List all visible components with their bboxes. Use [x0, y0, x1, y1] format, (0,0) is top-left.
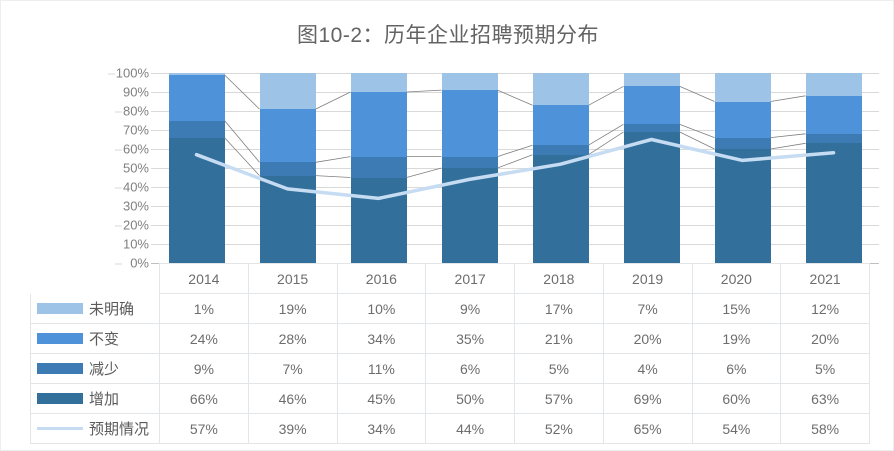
table-body: 未明确1%19%10%9%17%7%15%12%不变24%28%34%35%21… [31, 294, 870, 444]
table-cell: 24% [160, 324, 249, 354]
bar-column[interactable] [806, 73, 862, 263]
bar-column[interactable] [624, 73, 680, 263]
plot-wrapper [151, 73, 879, 263]
bar-segment[interactable] [624, 86, 680, 124]
bar-segment[interactable] [260, 176, 316, 263]
bar-column[interactable] [715, 73, 771, 263]
bar-segment[interactable] [715, 73, 771, 102]
bar-segment[interactable] [351, 157, 407, 178]
legend-label-text: 预期情况 [89, 418, 149, 439]
table-header-year: 2020 [692, 264, 781, 294]
table-cell: 54% [692, 414, 781, 444]
bar-segment[interactable] [806, 73, 862, 96]
table-cell: 10% [337, 294, 426, 324]
legend-label-text: 减少 [89, 358, 119, 379]
y-axis-tick-label: 30% [123, 199, 149, 214]
table-cell: 11% [337, 354, 426, 384]
table-cell: 5% [515, 354, 604, 384]
bar-column[interactable] [442, 73, 498, 263]
bar-segment[interactable] [533, 155, 589, 263]
bar-segment[interactable] [624, 73, 680, 86]
table-row: 增加66%46%45%50%57%69%60%63% [31, 384, 870, 414]
bar-segment[interactable] [169, 75, 225, 121]
legend-row-label: 不变 [31, 324, 160, 354]
legend-row-label: 预期情况 [31, 414, 160, 444]
chart-container: 图10-2：历年企业招聘预期分布 100%90%80%70%60%50%40%3… [0, 0, 894, 451]
y-axis-tick-mark [115, 112, 122, 113]
plot-area [151, 73, 879, 263]
bar-segment[interactable] [260, 162, 316, 175]
bar-segment[interactable] [533, 145, 589, 155]
table-header-year: 2021 [781, 264, 870, 294]
table-cell: 20% [781, 324, 870, 354]
table-cell: 35% [426, 324, 515, 354]
legend-label-text: 增加 [89, 388, 119, 409]
bar-segment[interactable] [806, 143, 862, 263]
bar-segment[interactable] [624, 132, 680, 263]
table-cell: 7% [603, 294, 692, 324]
table-header-year: 2016 [337, 264, 426, 294]
table-row: 未明确1%19%10%9%17%7%15%12% [31, 294, 870, 324]
bar-segment[interactable] [715, 102, 771, 138]
table-header-year: 2014 [160, 264, 249, 294]
bar-segment[interactable] [442, 157, 498, 168]
bar-segment[interactable] [533, 73, 589, 105]
legend-swatch-icon [37, 393, 83, 404]
table-row: 预期情况57%39%34%44%52%65%54%58% [31, 414, 870, 444]
table-header-year: 2017 [426, 264, 515, 294]
table-cell: 44% [426, 414, 515, 444]
table-cell: 20% [603, 324, 692, 354]
table-cell: 52% [515, 414, 604, 444]
table-cell: 57% [160, 414, 249, 444]
data-table: 20142015201620172018201920202021 未明确1%19… [30, 263, 870, 444]
page-title: 图10-2：历年企业招聘预期分布 [1, 19, 894, 49]
table-cell: 58% [781, 414, 870, 444]
table-cell: 4% [603, 354, 692, 384]
legend-row-label: 未明确 [31, 294, 160, 324]
table-cell: 39% [248, 414, 337, 444]
bar-segment[interactable] [442, 168, 498, 263]
legend-swatch-icon [37, 363, 83, 374]
bar-segment[interactable] [169, 138, 225, 263]
bar-segment[interactable] [169, 73, 225, 75]
table-header-year: 2018 [515, 264, 604, 294]
table-cell: 34% [337, 414, 426, 444]
table-row: 减少9%7%11%6%5%4%6%5% [31, 354, 870, 384]
table-cell: 19% [248, 294, 337, 324]
legend-label-text: 不变 [89, 328, 119, 349]
bar-segment[interactable] [533, 105, 589, 145]
table-cell: 69% [603, 384, 692, 414]
table-cell: 9% [426, 294, 515, 324]
bar-segment[interactable] [715, 149, 771, 263]
bar-segment[interactable] [260, 73, 316, 109]
table-cell: 6% [692, 354, 781, 384]
bar-segment[interactable] [806, 96, 862, 134]
y-axis: 100%90%80%70%60%50%40%30%20%10%0% [93, 65, 149, 263]
table-cell: 45% [337, 384, 426, 414]
bar-segment[interactable] [169, 121, 225, 138]
y-axis-tick-label: 20% [123, 218, 149, 233]
bar-segment[interactable] [351, 178, 407, 264]
table-cell: 7% [248, 354, 337, 384]
table-header-row: 20142015201620172018201920202021 [31, 264, 870, 294]
y-axis-tick-label: 80% [123, 104, 149, 119]
table-cell: 12% [781, 294, 870, 324]
y-axis-tick-mark [115, 150, 122, 151]
bar-segment[interactable] [260, 109, 316, 162]
y-axis-tick-label: 60% [123, 142, 149, 157]
table-cell: 5% [781, 354, 870, 384]
y-axis-tick-label: 50% [123, 161, 149, 176]
table-cell: 15% [692, 294, 781, 324]
table-cell: 28% [248, 324, 337, 354]
table-cell: 65% [603, 414, 692, 444]
table-header-label-cell [31, 264, 160, 294]
bar-segment[interactable] [351, 73, 407, 92]
table-cell: 6% [426, 354, 515, 384]
bar-segment[interactable] [442, 90, 498, 157]
table-cell: 17% [515, 294, 604, 324]
table-header-year: 2019 [603, 264, 692, 294]
y-axis-tick-mark [108, 74, 115, 75]
bar-column[interactable] [351, 73, 407, 263]
bar-column[interactable] [533, 73, 589, 263]
bar-segment[interactable] [806, 134, 862, 144]
y-axis-tick-label: 40% [123, 180, 149, 195]
y-axis-tick-label: 90% [123, 85, 149, 100]
legend-row-label: 增加 [31, 384, 160, 414]
bar-column[interactable] [260, 73, 316, 263]
legend-label-text: 未明确 [89, 298, 134, 319]
table-cell: 57% [515, 384, 604, 414]
table-row: 不变24%28%34%35%21%20%19%20% [31, 324, 870, 354]
bar-segment[interactable] [624, 124, 680, 132]
table-cell: 63% [781, 384, 870, 414]
legend-swatch-icon [37, 427, 83, 430]
y-axis-tick-label: 10% [123, 237, 149, 252]
table-cell: 21% [515, 324, 604, 354]
table-header-year: 2015 [248, 264, 337, 294]
y-axis-tick-label: 100% [116, 66, 149, 81]
y-axis-tick-mark [115, 226, 122, 227]
table-cell: 60% [692, 384, 781, 414]
bar-segment[interactable] [715, 138, 771, 149]
legend-swatch-icon [37, 333, 83, 344]
table-cell: 1% [160, 294, 249, 324]
legend-swatch-icon [37, 303, 83, 314]
table-cell: 66% [160, 384, 249, 414]
table-cell: 46% [248, 384, 337, 414]
bar-segment[interactable] [351, 92, 407, 157]
y-axis-tick-mark [115, 188, 122, 189]
table-cell: 9% [160, 354, 249, 384]
table-cell: 19% [692, 324, 781, 354]
legend-row-label: 减少 [31, 354, 160, 384]
table-cell: 50% [426, 384, 515, 414]
table-cell: 34% [337, 324, 426, 354]
bar-segment[interactable] [442, 73, 498, 90]
y-axis-tick-label: 70% [123, 123, 149, 138]
bar-column[interactable] [169, 73, 225, 263]
